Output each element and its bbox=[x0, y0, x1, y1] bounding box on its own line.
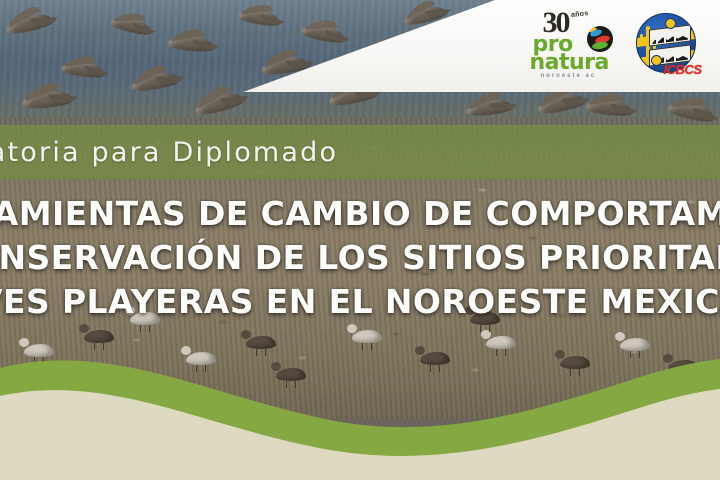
bird-icon bbox=[237, 7, 281, 28]
bird-icon bbox=[84, 330, 114, 343]
pronatura-anos-label: años bbox=[570, 10, 588, 19]
bird-icon bbox=[486, 336, 516, 349]
title-line-3: VES PLAYERAS EN EL NOROESTE MEXICANO” bbox=[0, 280, 720, 324]
poster-canvas: 30 años pro natura noroeste ac ICBCS bbox=[0, 0, 720, 480]
bird-icon bbox=[465, 98, 512, 118]
bird-icon bbox=[300, 22, 347, 46]
bird-icon bbox=[536, 91, 586, 116]
title-line-2: ONSERVACIÓN DE LOS SITIOS PRIORITARIOS P… bbox=[0, 236, 720, 280]
bird-icon bbox=[4, 11, 55, 36]
icbcs-wordmark: ICBCS bbox=[664, 62, 702, 77]
bird-icon bbox=[167, 34, 214, 54]
title-line-1: RAMIENTAS DE CAMBIO DE COMPORTAMIENTO bbox=[0, 192, 720, 236]
bird-icon bbox=[109, 14, 152, 37]
bird-icon bbox=[60, 59, 105, 79]
bird-icon bbox=[21, 89, 73, 110]
pronatura-natura-word: natura bbox=[530, 52, 609, 74]
bird-icon bbox=[246, 336, 276, 349]
bird-icon bbox=[585, 97, 633, 118]
globe-icon bbox=[587, 26, 613, 52]
logo-row: 30 años pro natura noroeste ac ICBCS bbox=[512, 4, 717, 88]
bird-icon bbox=[193, 90, 245, 118]
bird-icon bbox=[130, 70, 180, 93]
bird-icon bbox=[666, 99, 716, 125]
icbcs-logo[interactable]: ICBCS bbox=[631, 10, 701, 82]
pronatura-subline: noroeste ac bbox=[541, 73, 597, 79]
wave-svg bbox=[0, 350, 720, 480]
subtitle-text: ocatoria para Diplomado bbox=[0, 137, 338, 168]
bottom-wave-decoration bbox=[0, 350, 720, 480]
main-title: RAMIENTAS DE CAMBIO DE COMPORTAMIENTO ON… bbox=[0, 192, 720, 324]
bird-icon bbox=[352, 330, 382, 343]
pronatura-logo[interactable]: 30 años pro natura noroeste ac bbox=[529, 8, 617, 84]
subtitle-banner: ocatoria para Diplomado bbox=[0, 125, 720, 179]
